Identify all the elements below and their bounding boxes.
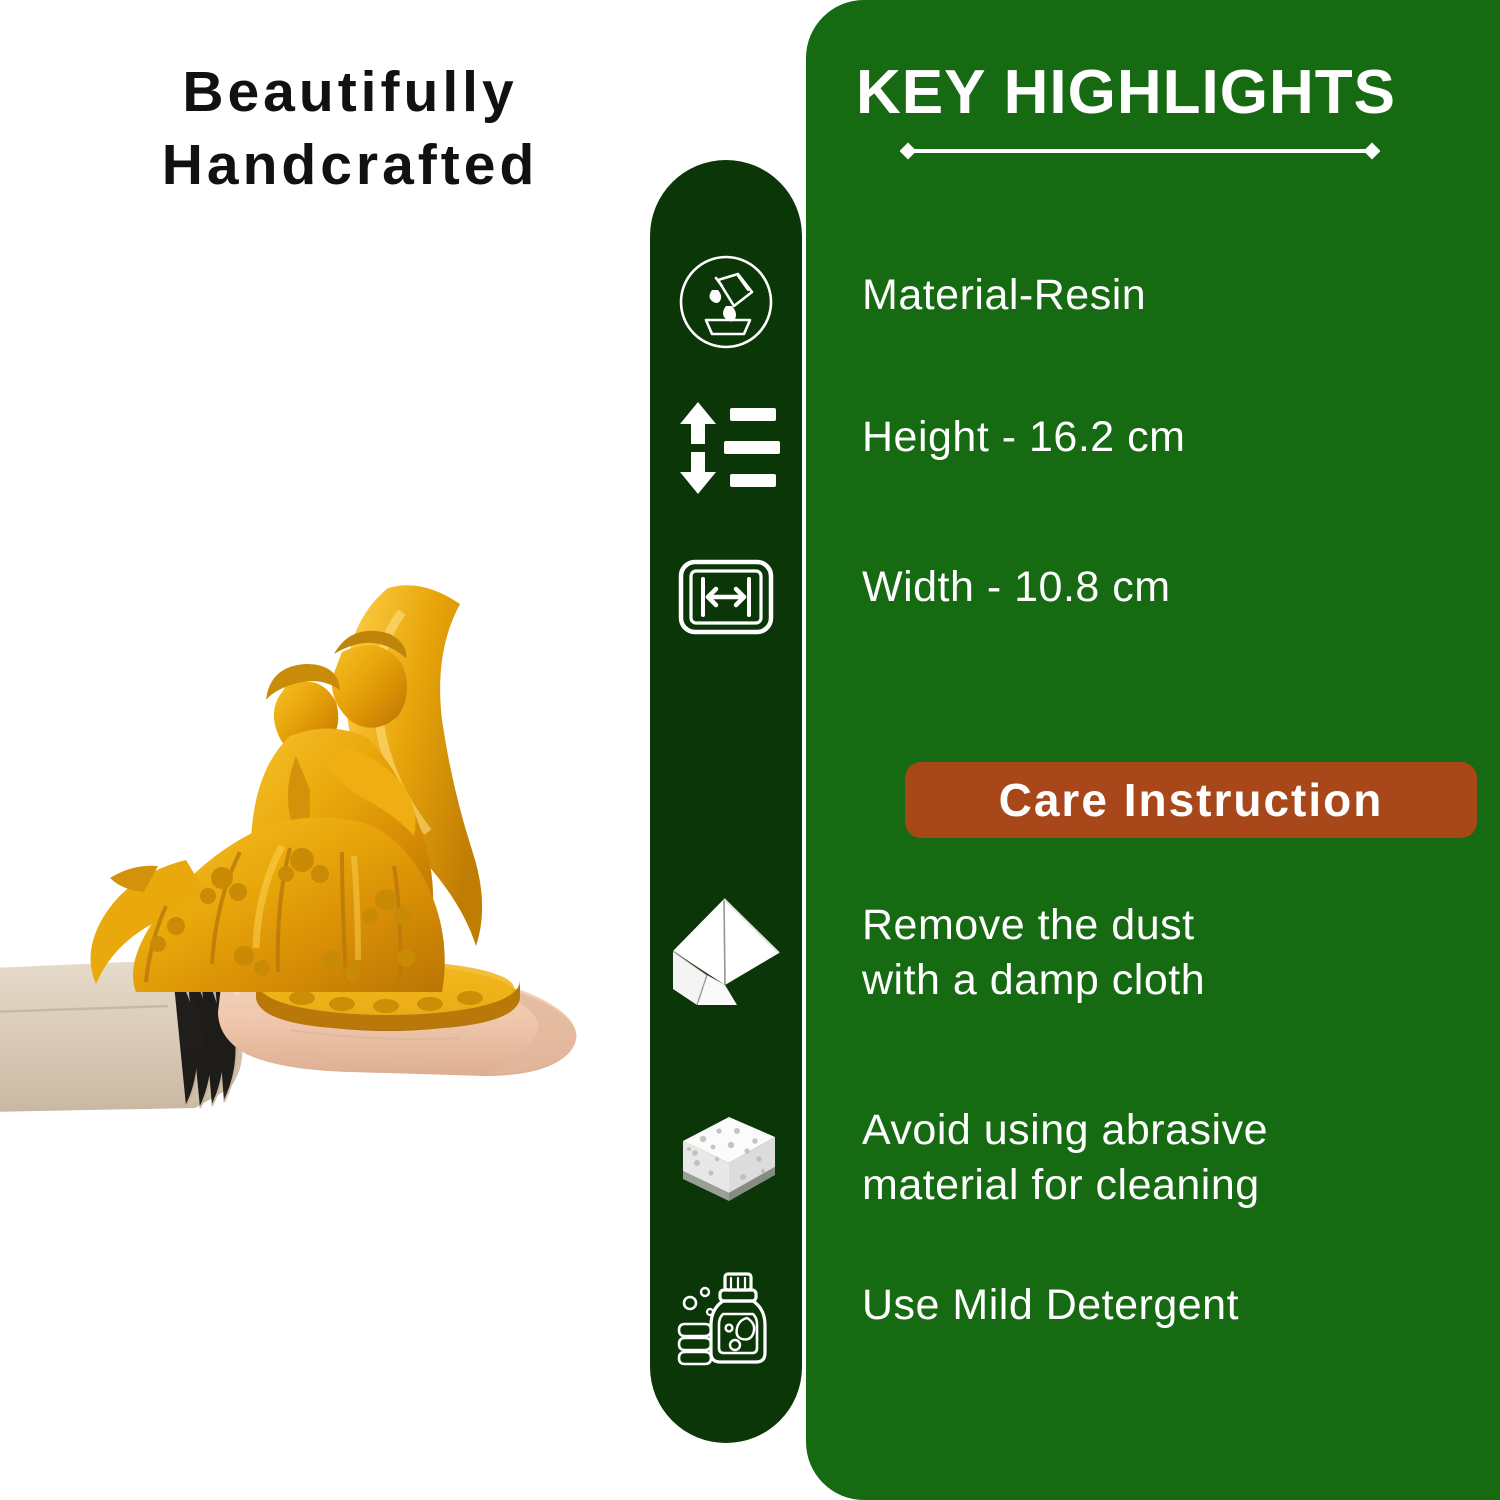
care-instruction-label: Care Instruction <box>999 773 1384 827</box>
care-instruction-badge: Care Instruction <box>905 762 1477 838</box>
width-arrow-icon <box>666 538 786 658</box>
headline-line-2: Handcrafted <box>60 129 640 202</box>
product-photo <box>0 560 630 1200</box>
care-text-3: Use Mild Detergent <box>862 1278 1239 1333</box>
spec-text-height: Height - 16.2 cm <box>862 410 1185 465</box>
care-text-2: Avoid using abrasive material for cleani… <box>862 1103 1268 1213</box>
care-text-3-line-1: Use Mild Detergent <box>862 1278 1239 1333</box>
detergent-bottle-icon <box>666 1255 786 1375</box>
headline-line-1: Beautifully <box>182 60 517 124</box>
panel-title: KEY HIGHLIGHTS <box>806 62 1446 124</box>
care-text-1-line-2: with a damp cloth <box>862 953 1205 1008</box>
page-title: Beautifully Handcrafted <box>60 56 640 202</box>
sponge-icon <box>666 1097 786 1217</box>
care-text-2-line-1: Avoid using abrasive <box>862 1103 1268 1158</box>
infographic-canvas: Beautifully Handcrafted <box>0 0 1500 1500</box>
title-divider <box>900 142 1380 160</box>
care-text-1-line-1: Remove the dust <box>862 898 1205 953</box>
height-arrows-icon <box>666 388 786 508</box>
spec-text-material: Material-Resin <box>862 268 1146 323</box>
key-highlights-panel <box>806 0 1500 1500</box>
cloth-icon <box>666 892 786 1012</box>
couple-figures <box>91 631 445 992</box>
care-text-2-line-2: material for cleaning <box>862 1158 1268 1213</box>
care-text-1: Remove the dust with a damp cloth <box>862 898 1205 1008</box>
spec-text-width: Width - 10.8 cm <box>862 560 1171 615</box>
resin-pour-icon <box>666 242 786 362</box>
